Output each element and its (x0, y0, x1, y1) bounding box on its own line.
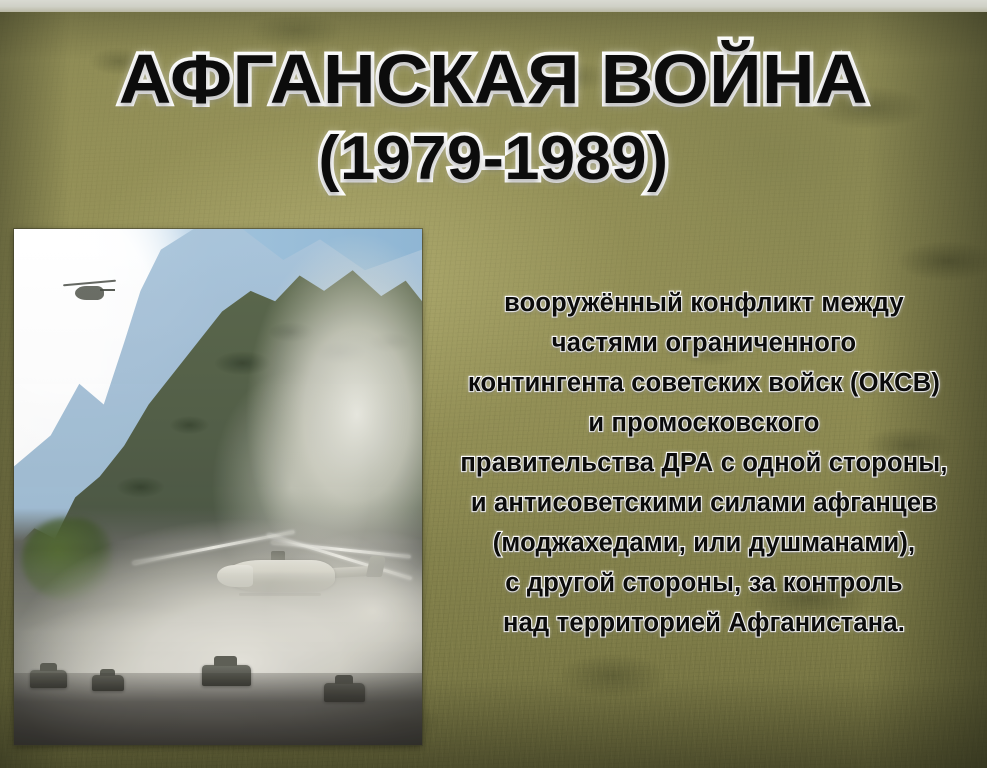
photo-color-grade (14, 229, 422, 745)
description-line: и промосковского (428, 403, 980, 443)
page-title: АФГАНСКАЯ ВОЙНА (0, 44, 987, 114)
description-line: контингента советских войск (ОКСВ) (428, 363, 980, 403)
description-text: вооружённый конфликт между частями огран… (428, 283, 980, 643)
title-years: (1979-1989) (0, 128, 987, 190)
description-line: над территорией Афганистана. (428, 603, 980, 643)
description-line: частями ограниченного (428, 323, 980, 363)
slide-canvas: АФГАНСКАЯ ВОЙНА (1979-1989) (0, 0, 987, 768)
description-line: (моджахедами, или душманами), (428, 523, 980, 563)
war-photograph (14, 229, 422, 745)
title-block: АФГАНСКАЯ ВОЙНА (1979-1989) (0, 44, 987, 190)
description-line: и антисоветскими силами афганцев (428, 483, 980, 523)
description-line: с другой стороны, за контроль (428, 563, 980, 603)
description-line: вооружённый конфликт между (428, 283, 980, 323)
description-line: правительства ДРА с одной стороны, (428, 443, 980, 483)
top-edge-strip (0, 0, 987, 12)
